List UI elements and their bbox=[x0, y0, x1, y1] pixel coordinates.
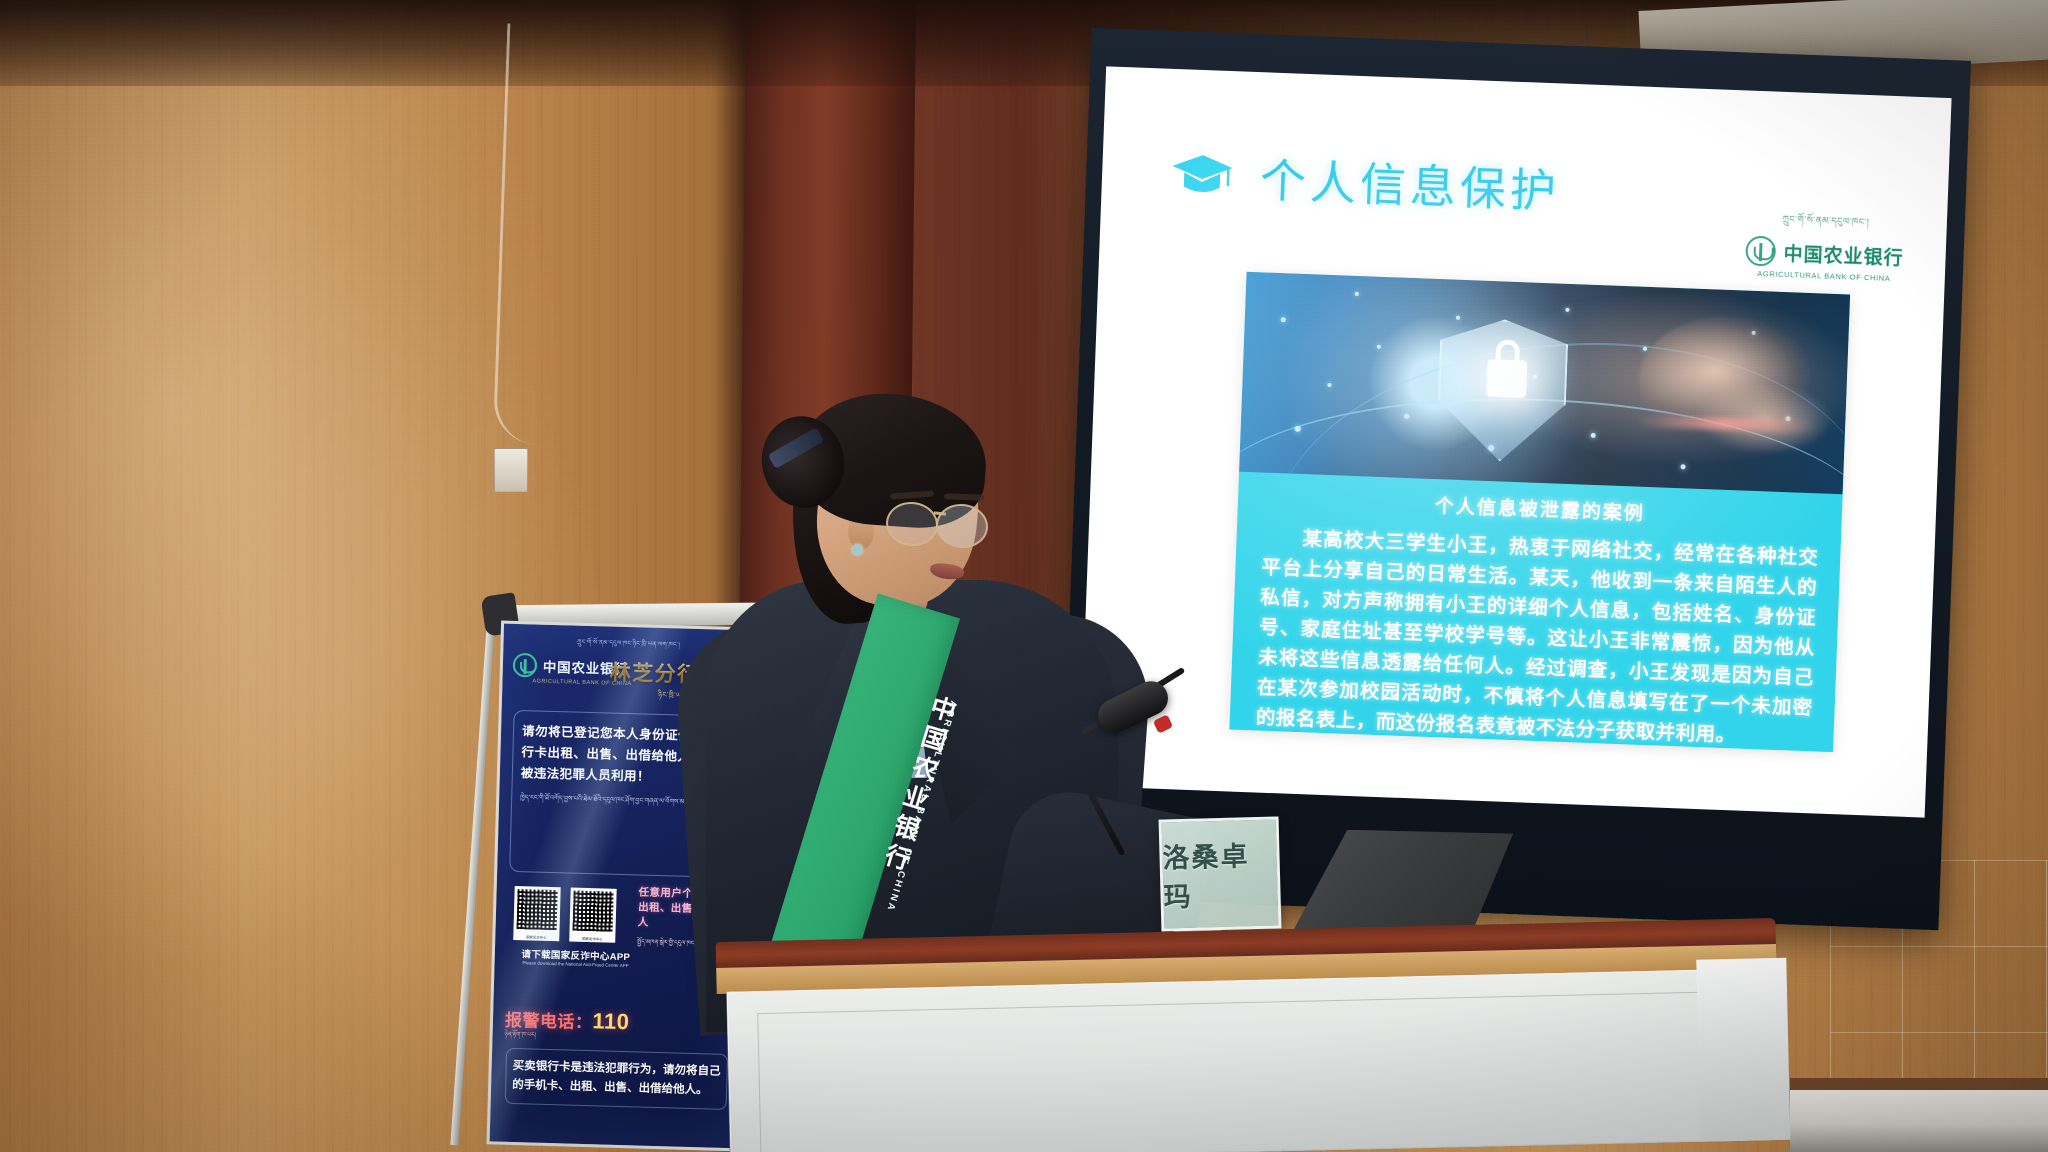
case-body-text: 某高校大三学生小王，热衷于网络社交，经常在各种社交平台上分享自己的日常生活。某天… bbox=[1255, 523, 1818, 753]
name-plate-text: 洛桑卓玛 bbox=[1162, 834, 1278, 915]
graduation-cap-icon bbox=[1169, 150, 1235, 200]
padlock-icon bbox=[1486, 359, 1527, 398]
name-plate: 洛桑卓玛 bbox=[1159, 816, 1282, 931]
projection-screen: 个人信息保护 ཀྲུང་གོ་སོ་ནམ་དངུལ་ཁང་། 中国农业银行 AG… bbox=[1059, 28, 1971, 930]
abc-bank-mark-icon bbox=[1745, 236, 1776, 267]
security-photo bbox=[1239, 272, 1850, 495]
lectern-side-panel bbox=[1696, 958, 1790, 1142]
slide-title: 个人信息保护 bbox=[1259, 144, 1561, 221]
baseboard bbox=[1790, 1090, 2048, 1152]
slide-canvas: 个人信息保护 ཀྲུང་གོ་སོ་ནམ་དངུལ་ཁང་། 中国农业银行 AG… bbox=[1079, 66, 1951, 817]
wall-outlet-plate bbox=[494, 448, 528, 492]
lectern-front-panel bbox=[757, 991, 1720, 1152]
slide-bank-logo: ཀྲུང་གོ་སོ་ནམ་དངུལ་ཁང་། 中国农业银行 AGRICULTU… bbox=[1733, 208, 1917, 284]
slide-logo-chinese: 中国农业银行 bbox=[1783, 238, 1904, 269]
presentation-scene: 个人信息保护 ཀྲུང་གོ་སོ་ནམ་དངུལ་ཁང་། 中国农业银行 AG… bbox=[0, 0, 2048, 1152]
lectern bbox=[716, 918, 1781, 1152]
earring bbox=[852, 544, 863, 555]
slide-content-card: 个人信息被泄露的案例 某高校大三学生小王，热衷于网络社交，经常在各种社交平台上分… bbox=[1229, 272, 1850, 752]
slide-title-row: 个人信息保护 bbox=[1169, 141, 1561, 222]
